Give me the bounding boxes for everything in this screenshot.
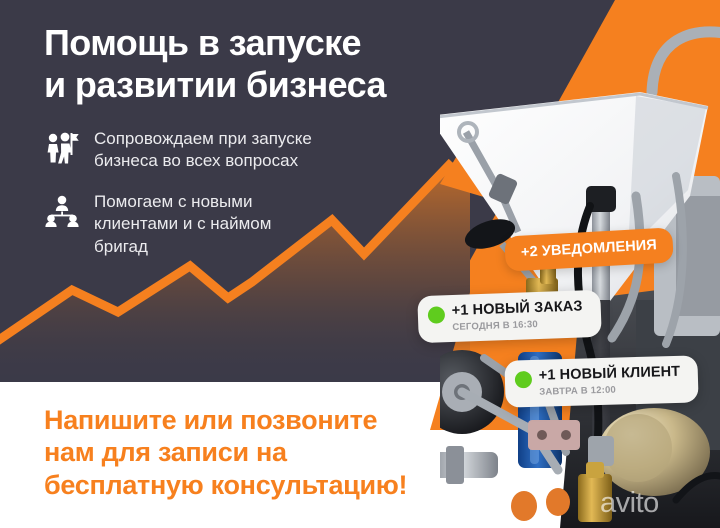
feature-support-line-1: Сопровождаем при запуске bbox=[94, 129, 312, 148]
team-flag-icon bbox=[44, 130, 80, 166]
feature-item-clients: Помогаем с новыми клиентами и с наймом б… bbox=[44, 191, 374, 258]
cta-line-3: бесплатную консультацию! bbox=[44, 469, 464, 501]
feature-support-line-2: бизнеса во всех вопросах bbox=[94, 151, 298, 170]
org-chart-people-icon bbox=[44, 193, 80, 229]
notification-time-new-client: ЗАВТРА В 12:00 bbox=[539, 382, 681, 397]
feature-clients-line-3: бригад bbox=[94, 237, 148, 256]
bracket-bolt-1 bbox=[537, 430, 547, 440]
notification-time-new-order: СЕГОДНЯ В 16:30 bbox=[452, 317, 583, 333]
pump-drum-face bbox=[604, 414, 672, 482]
bracket-bolt-2 bbox=[561, 430, 571, 440]
avito-watermark: avito bbox=[600, 487, 659, 520]
cta-line-1: Напишите или позвоните bbox=[44, 404, 464, 436]
machine-handle bbox=[652, 32, 720, 92]
notifications-badge-label: +2 УВЕДОМЛЕНИЯ bbox=[521, 237, 658, 261]
cta-line-2: нам для записи на bbox=[44, 436, 464, 468]
page-title: Помощь в запуске и развитии бизнеса bbox=[44, 22, 464, 107]
rubber-plug-2 bbox=[546, 488, 570, 516]
feature-text-clients: Помогаем с новыми клиентами и с наймом б… bbox=[94, 191, 271, 258]
green-status-dot bbox=[428, 306, 446, 324]
feature-text-support: Сопровождаем при запуске бизнеса во всех… bbox=[94, 128, 312, 173]
rubber-plug-1 bbox=[511, 491, 537, 521]
metal-bracket bbox=[528, 420, 580, 450]
feature-clients-line-2: клиентами и с наймом bbox=[94, 214, 271, 233]
ad-banner: Помощь в запуске и развитии бизнеса Сопр… bbox=[0, 0, 720, 528]
brass-valve-cap bbox=[586, 462, 604, 478]
feature-item-support: Сопровождаем при запуске бизнеса во всех… bbox=[44, 128, 374, 173]
notification-title-new-order: +1 НОВЫЙ ЗАКАЗ bbox=[451, 298, 582, 319]
notification-title-new-client: +1 НОВЫЙ КЛИЕНТ bbox=[539, 364, 681, 385]
notification-card-new-client[interactable]: +1 НОВЫЙ КЛИЕНТ ЗАВТРА В 12:00 bbox=[504, 355, 699, 407]
pump-outlet bbox=[588, 436, 614, 466]
call-to-action: Напишите или позвоните нам для записи на… bbox=[44, 404, 464, 501]
notification-card-new-order[interactable]: +1 НОВЫЙ ЗАКАЗ СЕГОДНЯ В 16:30 bbox=[417, 290, 601, 343]
feature-clients-line-1: Помогаем с новыми bbox=[94, 192, 252, 211]
headline-line-1: Помощь в запуске bbox=[44, 22, 464, 64]
feature-list: Сопровождаем при запуске бизнеса во всех… bbox=[44, 128, 374, 276]
headline-line-2: и развитии бизнеса bbox=[44, 64, 464, 106]
green-status-dot bbox=[515, 371, 532, 388]
